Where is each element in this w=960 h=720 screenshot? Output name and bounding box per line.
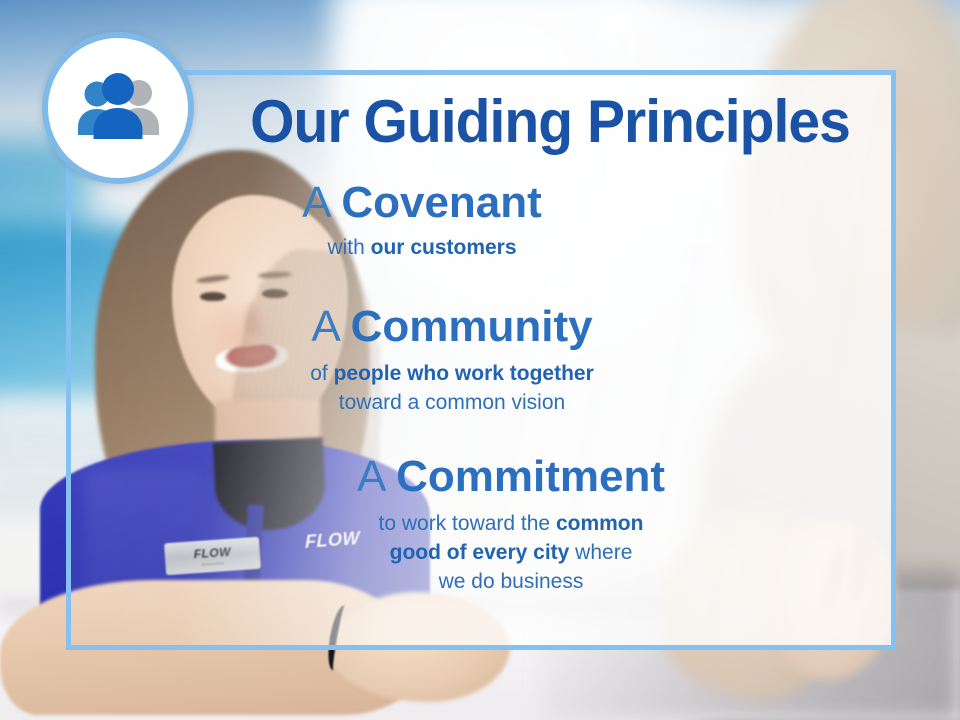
principle-commitment-keyword: Commitment (396, 452, 665, 501)
principle-community-subline: of people who work together (68, 360, 836, 389)
principle-covenant-keyword: Covenant (341, 178, 541, 227)
sub-text-regular: we do business (439, 570, 584, 593)
principle-commitment-article: A (357, 452, 384, 501)
sub-text-regular: to work toward the (379, 512, 556, 535)
principle-commitment: A Commitment to work toward the common g… (68, 454, 896, 597)
sub-text-bold: good of every city (390, 541, 570, 564)
sub-text-bold: people who work together (334, 362, 594, 385)
sub-text-bold: common (556, 512, 644, 535)
sub-text-bold: our customers (371, 236, 517, 259)
sub-text-regular: toward a common vision (339, 391, 565, 414)
principle-community-subline: toward a common vision (68, 389, 836, 418)
sub-text-regular: where (569, 541, 632, 564)
principle-commitment-subline: good of every city where (126, 539, 896, 568)
principle-commitment-heading: A Commitment (126, 454, 896, 500)
principle-covenant-heading: A Covenant (68, 180, 776, 226)
sub-text-regular: with (327, 236, 370, 259)
principle-community-subtext: of people who work together toward a com… (68, 360, 836, 418)
principle-commitment-subline: we do business (126, 568, 896, 597)
people-group-icon (70, 73, 166, 143)
principle-community-keyword: Community (351, 302, 593, 351)
principle-covenant: A Covenant with our customers (68, 180, 896, 263)
principle-community: A Community of people who work together … (68, 304, 896, 418)
people-group-badge (42, 32, 194, 184)
principle-community-article: A (311, 302, 338, 351)
page-title: Our Guiding Principles (237, 92, 864, 152)
sub-text-regular: of (310, 362, 333, 385)
guiding-principles-graphic: FLOW Automotive FLOW Our Guiding Princip… (0, 0, 960, 720)
principle-covenant-article: A (302, 178, 329, 227)
principle-covenant-subtext: with our customers (68, 234, 776, 263)
principle-commitment-subtext: to work toward the common good of every … (126, 510, 896, 597)
principle-community-heading: A Community (68, 304, 836, 350)
principle-commitment-subline: to work toward the common (126, 510, 896, 539)
principle-covenant-subline: with our customers (68, 234, 776, 263)
content-area: Our Guiding Principles A Covenant with o… (68, 72, 896, 650)
